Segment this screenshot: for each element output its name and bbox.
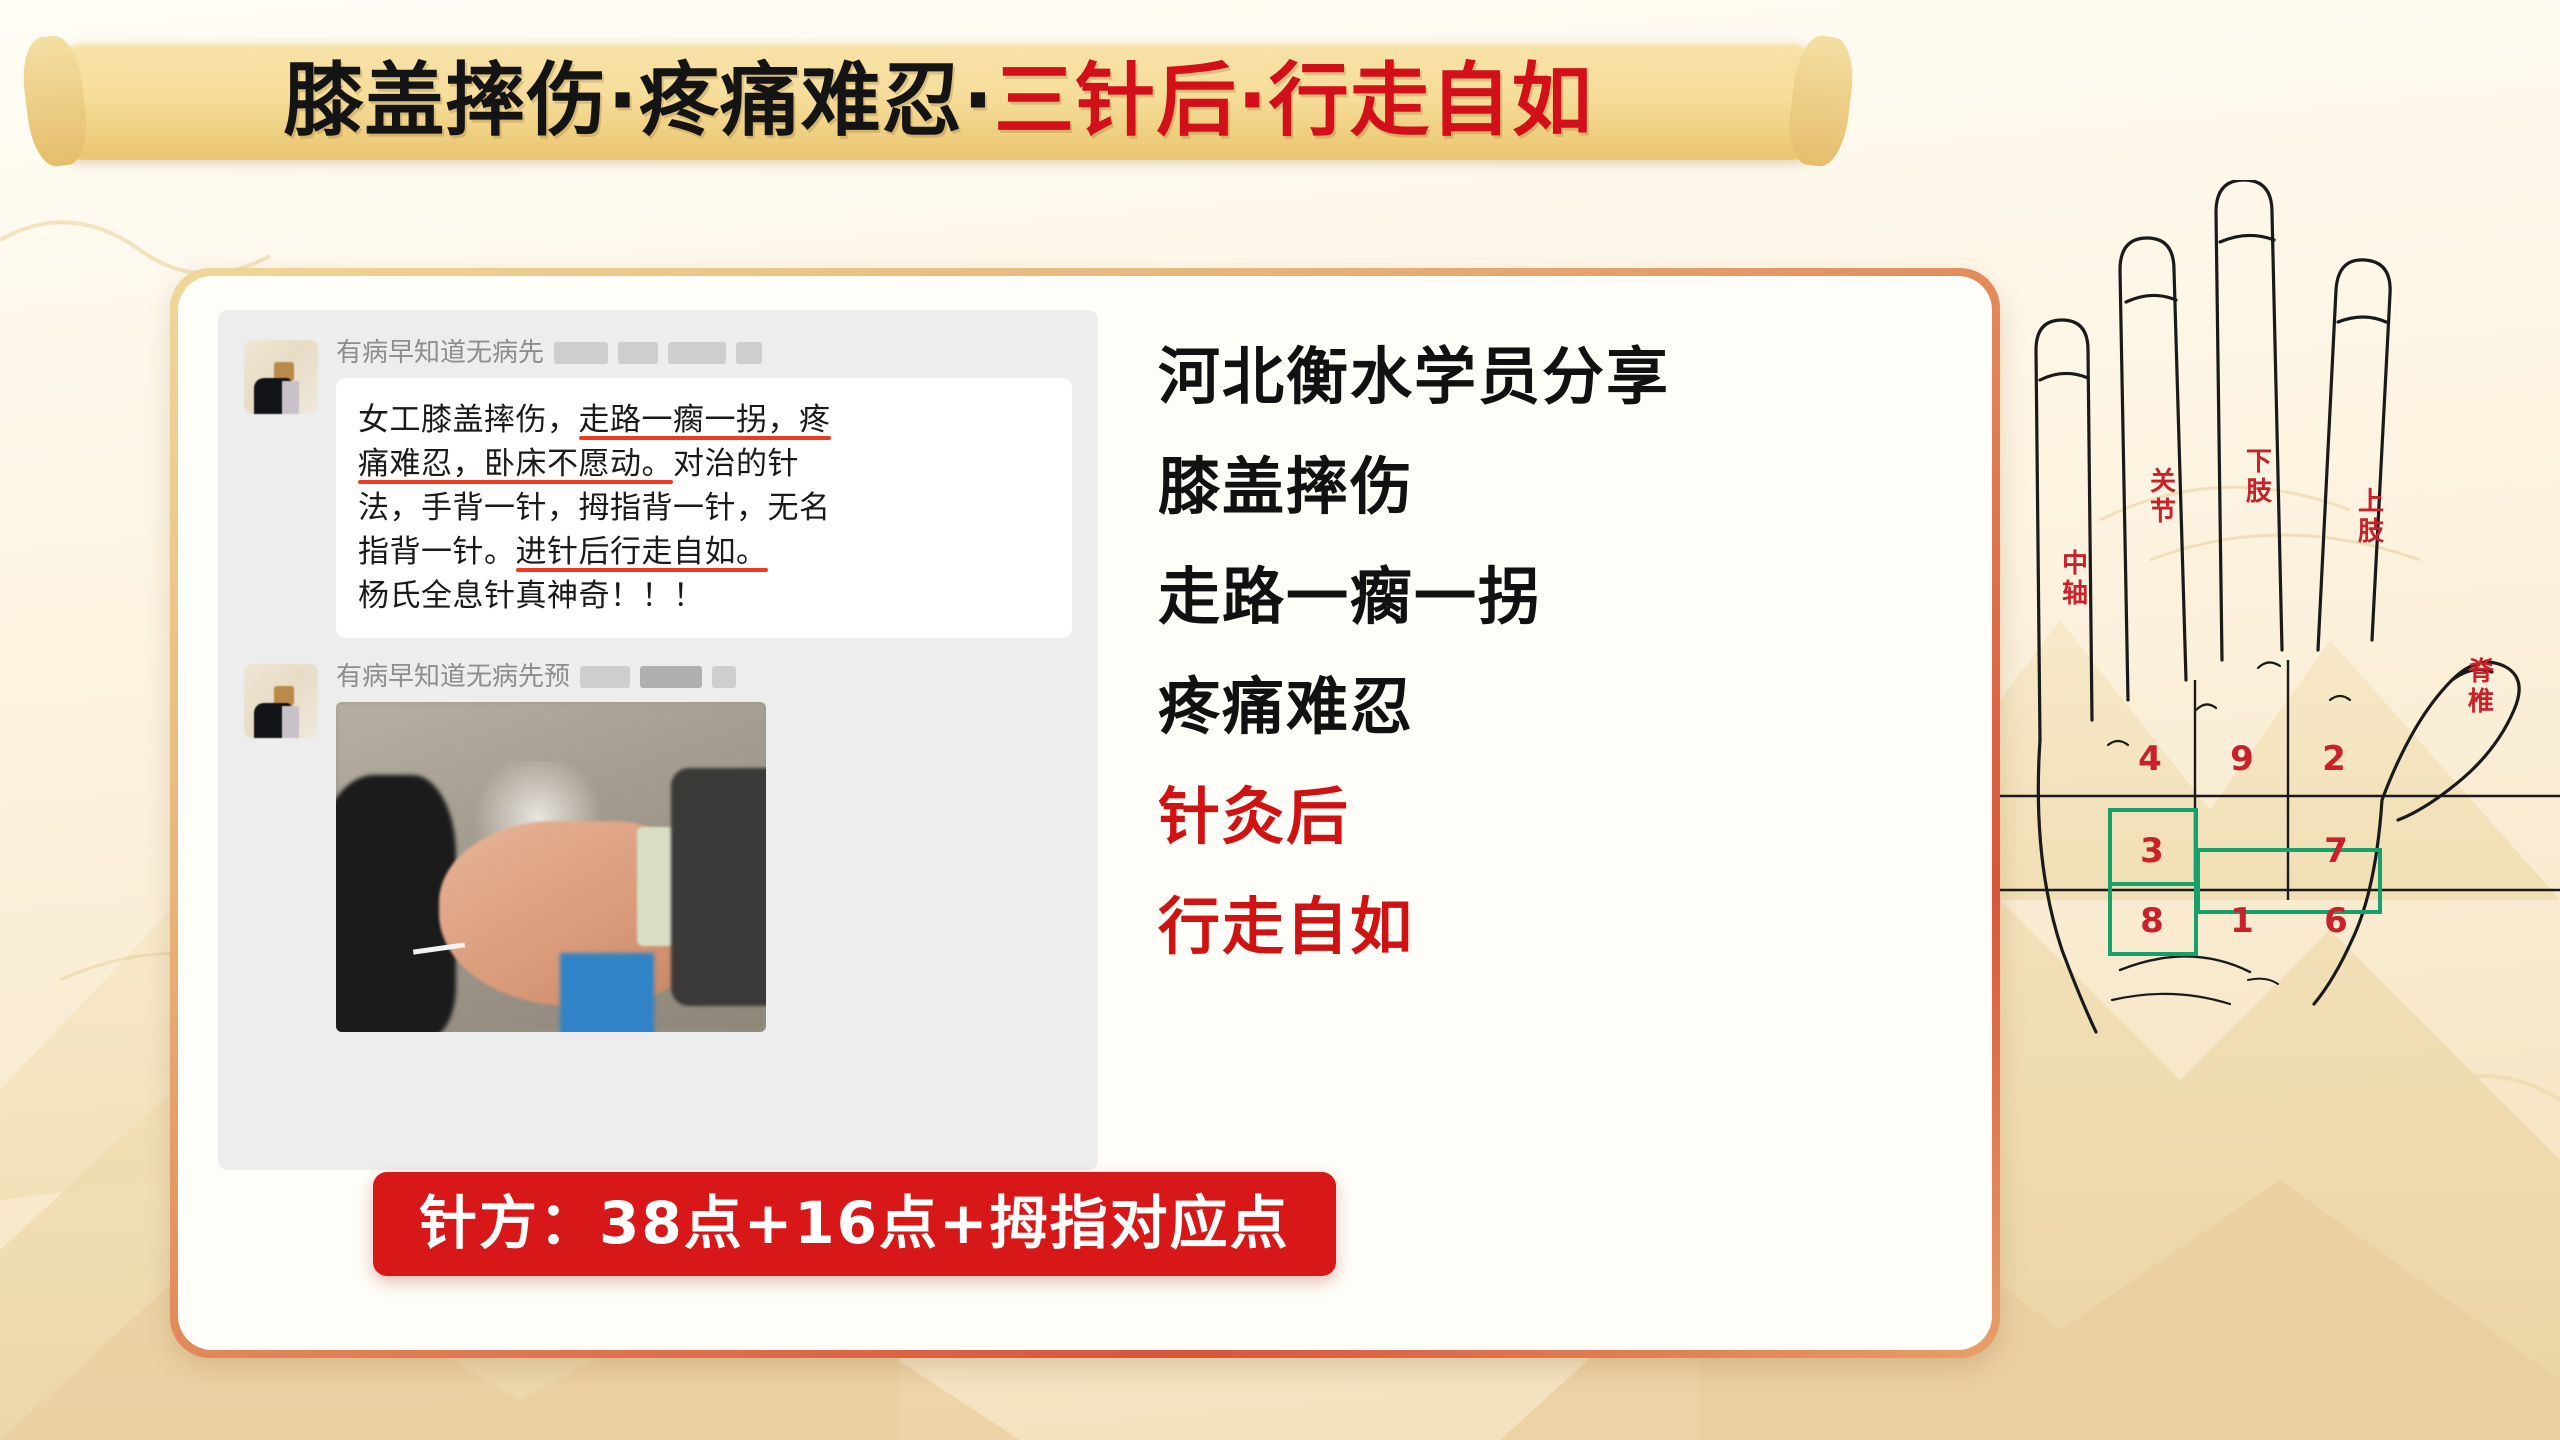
finger-label-upper-limb: 上肢 xyxy=(2358,487,2385,547)
chat-sender-name-2: 有病早知道无病先预 xyxy=(336,664,570,690)
avatar-body-shape-secondary xyxy=(282,706,298,739)
summary-line-2: 膝盖摔伤 xyxy=(1158,456,1918,518)
chat-sender-name-1: 有病早知道无病先 xyxy=(336,340,544,366)
zone-number-4: 4 xyxy=(2138,739,2162,779)
redacted-chip xyxy=(640,666,702,688)
zone-number-7: 7 xyxy=(2324,831,2348,871)
knuckle-mark-1 xyxy=(2108,741,2128,745)
redacted-chip xyxy=(736,342,762,364)
palm-left-edge xyxy=(2038,740,2096,1032)
knuckle-mark-3 xyxy=(2258,662,2280,668)
zone-number-8: 8 xyxy=(2140,901,2164,941)
redacted-chip xyxy=(554,342,608,364)
summary-line-5: 针灸后 xyxy=(1158,786,1918,848)
finger-label-middle-axis: 中轴 xyxy=(2062,549,2088,609)
finger-label-spine: 脊椎 xyxy=(2467,657,2495,717)
palm-crease-3 xyxy=(2248,979,2278,984)
acupuncture-treatment-photo[interactable] xyxy=(336,702,766,1032)
avatar xyxy=(244,664,318,738)
finger-nail-crease-3 xyxy=(2220,235,2274,242)
chat-message-2-column: 有病早知道无病先预 xyxy=(336,664,1072,1032)
summary-line-1: 河北衡水学员分享 xyxy=(1158,346,1918,408)
redacted-chip xyxy=(618,342,658,364)
palm-crease-1 xyxy=(2120,956,2250,972)
palm-crease-2 xyxy=(2112,994,2230,1004)
bubble-line-1: 女工膝盖摔伤，走路一瘸一拐，疼 xyxy=(358,398,1050,442)
bubble-line-4: 指背一针。进针后行走自如。 xyxy=(358,530,1050,574)
chat-sender-name-row-1: 有病早知道无病先 xyxy=(336,340,1072,366)
finger-outline-index xyxy=(2036,320,2092,740)
title-black-text: 膝盖摔伤·疼痛难忍· xyxy=(283,54,994,147)
title-banner: 膝盖摔伤·疼痛难忍·三针后·行走自如 xyxy=(58,42,1818,160)
zone-number-3: 3 xyxy=(2140,831,2164,871)
finger-nail-crease-4 xyxy=(2338,317,2386,322)
avatar xyxy=(244,340,318,414)
chat-message-1: 有病早知道无病先 女工膝盖摔伤，走路一瘸一拐，疼 痛难忍，卧床不愿动。对治的针 … xyxy=(244,340,1072,638)
page-title: 膝盖摔伤·疼痛难忍·三针后·行走自如 xyxy=(283,61,1592,141)
hand-holography-diagram: 中轴 关节 下肢 上肢 脊椎 4 9 2 3 7 8 1 6 xyxy=(2000,180,2560,1080)
chat-screenshot-pane: 有病早知道无病先 女工膝盖摔伤，走路一瘸一拐，疼 痛难忍，卧床不愿动。对治的针 … xyxy=(218,310,1098,1170)
avatar-body-shape-secondary xyxy=(282,381,298,414)
redacted-chip xyxy=(668,342,726,364)
zone-number-1: 1 xyxy=(2230,901,2254,941)
prescription-banner: 针方：38点+16点+拇指对应点 xyxy=(373,1172,1336,1276)
photo-sleeve xyxy=(671,768,766,1006)
zone-number-6: 6 xyxy=(2324,901,2348,941)
knuckle-mark-4 xyxy=(2330,696,2350,700)
finger-outline-3 xyxy=(2216,180,2282,660)
bubble-line-3: 法，手背一针，拇指背一针，无名 xyxy=(358,486,1050,530)
main-content-card: 有病早知道无病先 女工膝盖摔伤，走路一瘸一拐，疼 痛难忍，卧床不愿动。对治的针 … xyxy=(170,268,2000,1358)
photo-blue-object xyxy=(560,953,655,1032)
redacted-chip xyxy=(580,666,630,688)
zone-number-9: 9 xyxy=(2230,739,2254,779)
summary-line-6: 行走自如 xyxy=(1158,896,1918,958)
chat-sender-name-row-2: 有病早知道无病先预 xyxy=(336,664,1072,690)
bubble-line-5: 杨氏全息针真神奇！！！ xyxy=(358,574,1050,618)
chat-bubble-text: 女工膝盖摔伤，走路一瘸一拐，疼 痛难忍，卧床不愿动。对治的针 法，手背一针，拇指… xyxy=(336,378,1072,638)
summary-line-3: 走路一瘸一拐 xyxy=(1158,566,1918,628)
chat-message-1-column: 有病早知道无病先 女工膝盖摔伤，走路一瘸一拐，疼 痛难忍，卧床不愿动。对治的针 … xyxy=(336,340,1072,638)
redacted-chip xyxy=(712,666,736,688)
finger-label-lower-limb: 下肢 xyxy=(2246,447,2273,507)
zone-number-2: 2 xyxy=(2322,739,2346,779)
summary-line-4: 疼痛难忍 xyxy=(1158,676,1918,738)
finger-label-joint: 关节 xyxy=(2150,467,2176,527)
finger-nail-crease-2 xyxy=(2126,295,2176,302)
title-red-text: 三针后·行走自如 xyxy=(994,54,1592,147)
summary-text-column: 河北衡水学员分享 膝盖摔伤 走路一瘸一拐 疼痛难忍 针灸后 行走自如 xyxy=(1158,346,1918,1006)
chat-message-2: 有病早知道无病先预 xyxy=(244,664,1072,1032)
bubble-line-2: 痛难忍，卧床不愿动。对治的针 xyxy=(358,442,1050,486)
knuckle-mark-2 xyxy=(2196,704,2216,710)
card-inner-surface: 有病早知道无病先 女工膝盖摔伤，走路一瘸一拐，疼 痛难忍，卧床不愿动。对治的针 … xyxy=(178,276,1992,1350)
finger-nail-crease-index xyxy=(2040,373,2088,380)
